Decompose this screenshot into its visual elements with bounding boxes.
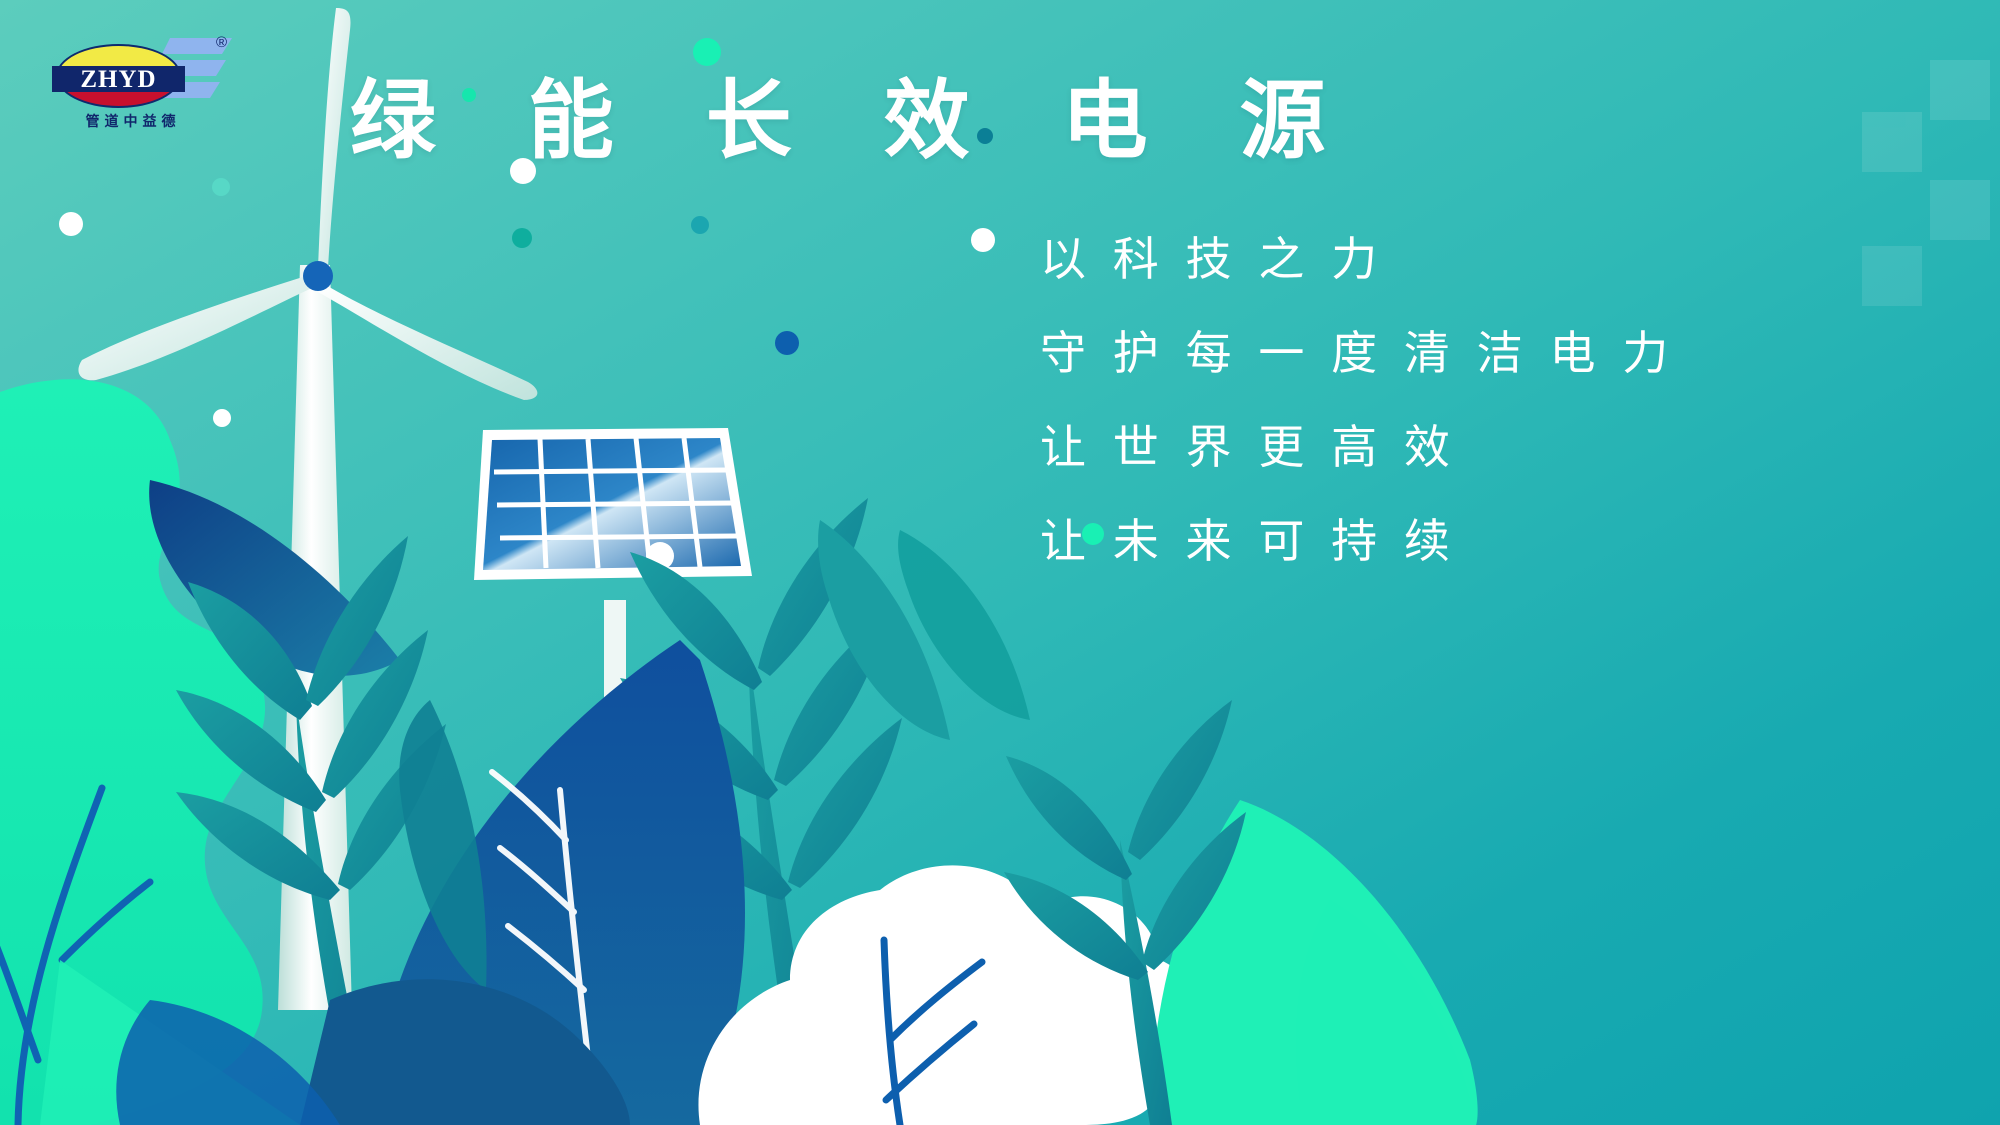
tagline-line-4: 让 未 来 可 持 续: [1040, 518, 1660, 564]
poster-canvas: ZHYD ® 管道中益德 绿 能 长 效 电 源 以 科 技 之 力 守 护 每…: [0, 0, 2000, 1125]
logo-subtitle: 管道中益德: [58, 111, 208, 131]
company-logo[interactable]: ZHYD ® 管道中益德: [48, 18, 233, 130]
tagline-block: 以 科 技 之 力 守 护 每 一 度 清 洁 电 力 让 世 界 更 高 效 …: [1040, 236, 1660, 564]
registered-trademark-icon: ®: [216, 34, 227, 51]
logo-wordmark: ZHYD: [80, 67, 156, 92]
tagline-line-1: 以 科 技 之 力: [1040, 236, 1660, 282]
tagline-line-3: 让 世 界 更 高 效: [1040, 424, 1660, 470]
page-title: 绿 能 长 效 电 源: [350, 78, 1359, 164]
logo-wordmark-band: ZHYD: [52, 66, 185, 92]
tagline-line-2: 守 护 每 一 度 清 洁 电 力: [1040, 330, 1660, 376]
decorative-squares: [1862, 60, 1990, 306]
turbine-hub: [303, 261, 333, 291]
